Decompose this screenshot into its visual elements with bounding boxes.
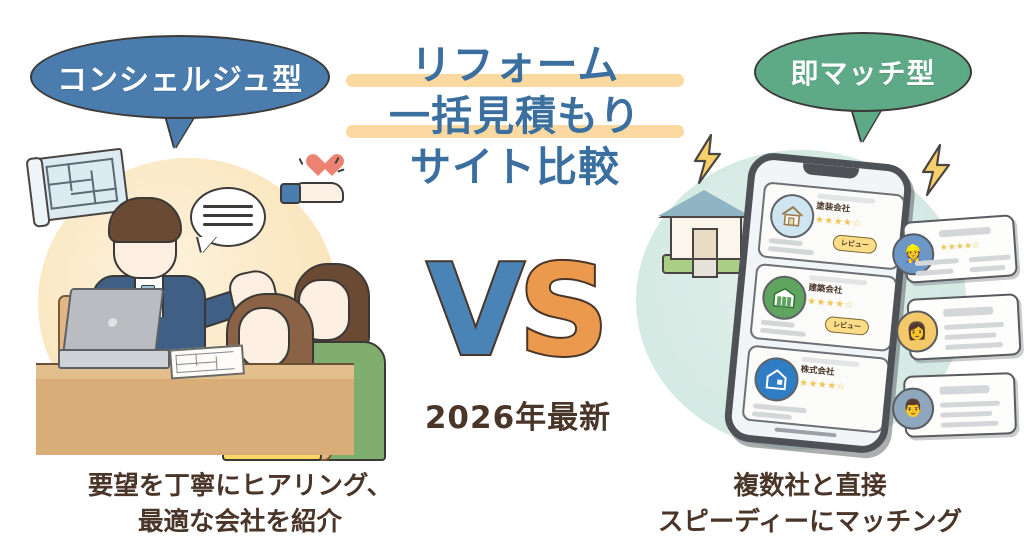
left-caption-line-1: 要望を丁寧にヒアリング、 [40,468,440,504]
rating-stars: ★★★★☆ [814,214,862,229]
woman-avatar: 👩 [895,309,939,353]
floorplan-paper [169,344,245,379]
right-badge-bubble: 即マッチ型 [754,32,972,112]
versus-mark: VS [418,248,618,374]
right-badge-tail [852,108,882,142]
home-indicator [774,427,836,437]
main-title: リフォーム 一括見積もり サイト比較 [350,40,680,192]
laptop-keyboard [58,349,170,369]
left-caption: 要望を丁寧にヒアリング、 最適な会社を紹介 [40,468,440,540]
phone-card-3[interactable]: 株式会社 ★★★★☆ [741,345,890,434]
left-caption-line-2: 最適な会社を紹介 [40,504,440,540]
heart-on-hand-icon [280,155,346,211]
phone-card-1[interactable]: 塗装会社 ★★★★☆ レビュー [757,181,906,270]
rating-stars: ★★★★☆ [799,378,847,393]
year-label: 2026年最新 [418,392,618,437]
house-icon [752,355,800,403]
left-badge-bubble: コンシェルジュ型 [30,35,330,119]
review-side-card-2[interactable]: 👩 [906,293,1021,361]
title-line-3: サイト比較 [350,142,680,193]
left-illustration [30,145,360,455]
rating-stars: ★★★★☆ [807,296,855,311]
right-caption-line-2: スピーディーにマッチング [610,504,1010,540]
left-badge-label: コンシェルジュ型 [57,55,303,99]
company-name: 株式会社 [800,363,835,378]
laptop-screen [62,288,165,358]
title-line-3-text: サイト比較 [410,143,620,191]
title-line-2-text: 一括見積もり [389,92,641,140]
right-illustration: 塗装会社 ★★★★☆ レビュー 建築会社 ★★★★☆ レビュー [636,130,1024,460]
customer-woman-face [238,307,290,369]
rating-stars: ★★★★☆ [940,241,981,254]
smartphone-device: 塗装会社 ★★★★☆ レビュー 建築会社 ★★★★☆ レビュー [722,151,913,455]
desk-front [36,379,354,455]
company-name: 建築会社 [808,281,843,296]
house-icon [768,192,816,240]
heart-icon [306,155,332,179]
versus-s: S [518,237,609,384]
review-button[interactable]: レビュー [824,316,869,336]
review-side-card-1[interactable]: 👷 ★★★★☆ [902,214,1018,284]
review-button[interactable]: レビュー [832,234,877,254]
chat-bubble-tail [198,237,216,253]
infographic-canvas: 塗装会社 ★★★★☆ レビュー 建築会社 ★★★★☆ レビュー [0,0,1024,559]
company-name: 塗装会社 [816,199,851,214]
right-caption-line-1: 複数社と直接 [610,468,1010,504]
right-caption: 複数社と直接 スピーディーにマッチング [610,468,1010,540]
consultant-hair [108,197,182,243]
phone-notch [802,163,859,179]
phone-card-2[interactable]: 建築会社 ★★★★☆ レビュー [749,263,898,352]
right-badge-label: 即マッチ型 [790,52,935,92]
man-avatar: 👨 [891,387,934,430]
title-line-1: リフォーム [350,40,680,91]
building-icon [760,274,808,322]
title-line-1-text: リフォーム [411,41,620,89]
versus-v: V [427,237,525,384]
review-side-card-3[interactable]: 👨 [903,372,1017,438]
title-line-2: 一括見積もり [350,91,680,142]
blueprint-grid [45,158,118,210]
sleeve-cuff [280,183,301,204]
